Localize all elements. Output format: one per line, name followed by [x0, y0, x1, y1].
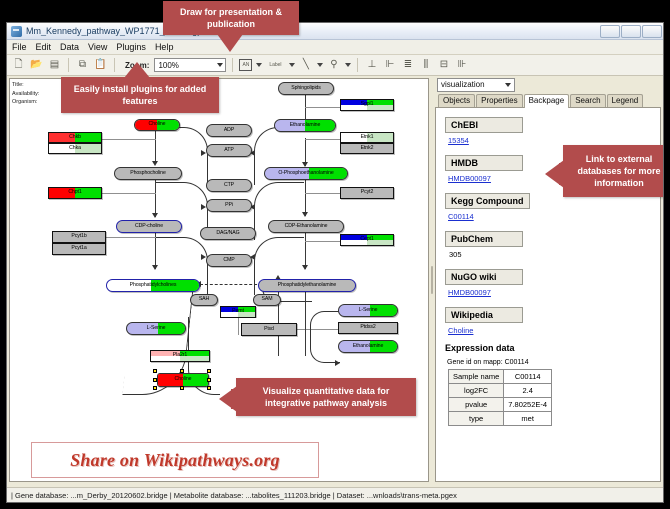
pathway-meta: Title: Availability: Organism: — [12, 81, 39, 107]
node-label: Etnk1 — [361, 135, 374, 140]
visualization-value: visualization — [441, 80, 485, 89]
table-row: log2FC 2.4 — [449, 384, 552, 398]
node-label: Pcyt1b — [71, 234, 86, 239]
node-label: ATP — [224, 148, 233, 153]
node-atp[interactable]: ATP — [206, 144, 252, 157]
toolbar-separator-1 — [68, 58, 69, 72]
app-icon — [11, 26, 22, 37]
line-icon[interactable]: ╲ — [298, 58, 313, 73]
selection-handle[interactable] — [153, 386, 157, 390]
align-left-icon[interactable]: ⊩ — [382, 58, 397, 73]
open-folder-icon[interactable]: 📂 — [29, 58, 44, 73]
gene-link-pcyt1 — [106, 237, 156, 238]
node-label: ADP — [224, 128, 234, 133]
node-chpt1[interactable]: Chpt1 — [48, 187, 102, 199]
toolbar-separator-2 — [114, 58, 115, 72]
node-label: CMP — [223, 258, 234, 263]
edge-pe-pc — [200, 284, 262, 285]
node-label: CDP-Ethanolamine — [285, 224, 328, 229]
node-sam[interactable]: SAM — [253, 294, 281, 306]
node-label: Etnk2 — [361, 146, 374, 151]
node-ethanolamine[interactable]: Ethanolamine — [274, 119, 336, 132]
selection-handle[interactable] — [153, 369, 157, 373]
align-top-icon[interactable]: ⊥ — [364, 58, 379, 73]
node-pcyt2[interactable]: Pcyt2 — [340, 187, 394, 199]
cell-label: type — [449, 412, 504, 426]
toolbar-separator-4 — [357, 58, 358, 72]
selection-handle[interactable] — [180, 386, 184, 390]
pathvisio-window: Mm_Kennedy_pathway_WP1771_45176.gpml - P… — [6, 22, 664, 503]
node-label: Phosphocholine — [130, 171, 166, 176]
title-bar: Mm_Kennedy_pathway_WP1771_45176.gpml - P… — [7, 23, 663, 40]
node-adp[interactable]: ADP — [206, 124, 252, 137]
callout-visualize-text: Visualize quantitative data for integrat… — [244, 385, 408, 409]
main-toolbar: 🗋 📂 ▤ ⧉ 📋 Zoom: 100% AN Label ╲ ⚲ ⊥ ⊩ ≣ … — [7, 55, 663, 76]
db-link-wikipedia[interactable]: Choline — [448, 326, 660, 335]
status-text: | Gene database: ...m_Derby_20120602.bri… — [11, 491, 457, 500]
selection-handle[interactable] — [207, 386, 211, 390]
callout-share: Share on Wikipathways.org — [31, 442, 319, 478]
edge-cdpethn-pe — [305, 231, 306, 269]
cell-value: C00114 — [504, 370, 552, 384]
visualization-row: visualization — [435, 78, 661, 93]
node-phosphatidylethanolamine[interactable]: Phosphatidylethanolamine — [258, 279, 356, 292]
chevron-down-icon — [217, 63, 223, 67]
node-label: Pisd — [264, 327, 274, 332]
main-body: Title: Availability: Organism: — [7, 76, 663, 484]
cell-value: 2.4 — [504, 384, 552, 398]
callout-visualize-tail — [231, 389, 239, 409]
node-label: Choline — [175, 377, 192, 382]
table-row: Sample name C00114 — [449, 370, 552, 384]
gene-link-cept1 — [305, 241, 342, 242]
cell-label: log2FC — [449, 384, 504, 398]
copy-icon[interactable]: ⧉ — [75, 58, 90, 73]
node-dag-nag[interactable]: DAG/NAG — [200, 227, 256, 240]
menu-data[interactable]: Data — [60, 42, 79, 52]
gene-id-line: Gene id on mapp: C00114 — [447, 359, 660, 366]
node-label: Chkb — [69, 135, 81, 140]
arrow-icon — [335, 360, 340, 366]
node-sah[interactable]: SAH — [190, 294, 218, 306]
db-link-kegg[interactable]: C00114 — [448, 212, 660, 221]
maximize-button[interactable] — [621, 25, 641, 38]
callout-plugins-tail — [132, 75, 144, 83]
node-label: Ethanolamine — [290, 123, 321, 128]
node-label: SAH — [199, 297, 209, 302]
expression-table: Sample name C00114 log2FC 2.4 pvalue 7.8… — [448, 369, 552, 426]
minimize-button[interactable] — [600, 25, 620, 38]
side-panel: visualization Objects Properties Backpag… — [435, 78, 661, 482]
close-button[interactable] — [642, 25, 662, 38]
gene-link-etnk — [305, 139, 342, 140]
node-chka[interactable]: Chka — [48, 143, 102, 154]
paste-icon[interactable]: 📋 — [93, 58, 108, 73]
node-cmp[interactable]: CMP — [206, 254, 252, 267]
save-icon[interactable]: ▤ — [47, 58, 62, 73]
zoom-value: 100% — [158, 61, 178, 70]
node-label: Chpt1 — [68, 190, 81, 195]
selection-handle[interactable] — [180, 369, 184, 373]
callout-draw: Draw for presentation & publication — [163, 1, 299, 35]
node-choline-top[interactable]: Choline — [134, 119, 180, 131]
menu-file[interactable]: File — [12, 42, 27, 52]
node-ppi[interactable]: PPi — [206, 199, 252, 212]
gene-link-chpt1 — [100, 193, 156, 194]
db-header-chebi: ChEBI — [445, 117, 523, 133]
node-choline-selected[interactable]: Choline — [157, 373, 209, 387]
callout-links-tail — [559, 163, 567, 185]
chevron-down-icon — [505, 83, 511, 87]
tab-properties[interactable]: Properties — [476, 94, 522, 107]
datanode-icon[interactable]: AN — [239, 59, 252, 71]
node-label: Phosphatidylethanolamine — [278, 283, 336, 288]
db-value-pubchem: 305 — [449, 250, 660, 259]
expression-data-title: Expression data — [445, 343, 660, 353]
node-label: Pcyt1a — [71, 246, 86, 251]
callout-share-text: Share on Wikipathways.org — [70, 450, 280, 471]
db-link-chebi[interactable]: 15354 — [448, 136, 660, 145]
stack-right-icon[interactable]: ⊪ — [454, 58, 469, 73]
node-label: O-Phosphoethanolamine — [278, 171, 333, 176]
node-label: CTP — [224, 183, 234, 188]
node-label: Ptdss2 — [360, 325, 375, 330]
node-ethanolamine-bottom[interactable]: Ethanolamine — [338, 340, 398, 353]
tab-legend[interactable]: Legend — [607, 94, 644, 107]
cell-value: 7.80252E-4 — [504, 398, 552, 412]
callout-draw-tail — [225, 33, 235, 41]
gene-link-pcyt2 — [305, 193, 342, 194]
node-o-phosphoethanolamine[interactable]: O-Phosphoethanolamine — [264, 167, 348, 180]
window-buttons[interactable] — [600, 25, 663, 38]
menu-bar: File Edit Data View Plugins Help — [7, 40, 663, 55]
node-label: SAM — [262, 297, 273, 302]
menu-view[interactable]: View — [88, 42, 107, 52]
datanode-dropdown-icon[interactable] — [256, 63, 262, 67]
pathway-canvas[interactable]: Title: Availability: Organism: — [9, 78, 429, 482]
db-header-kegg: Kegg Compound — [445, 193, 530, 209]
node-label: L-Serine — [147, 326, 166, 331]
node-label: PPi — [225, 203, 233, 208]
node-ptdss2[interactable]: Ptdss2 — [338, 322, 398, 334]
callout-visualize: Visualize quantitative data for integrat… — [236, 378, 416, 416]
node-phosphocholine[interactable]: Phosphocholine — [114, 167, 182, 180]
line-dropdown-icon[interactable] — [317, 63, 323, 67]
callout-links-text: Link to external databases for more info… — [571, 153, 664, 189]
gene-link-sgpl1 — [305, 107, 342, 108]
db-link-nugo[interactable]: HMDB00097 — [448, 288, 660, 297]
selection-handle[interactable] — [153, 378, 157, 382]
edge-pethn-cdpethn — [305, 178, 306, 216]
node-label: Sgpl1 — [361, 102, 374, 107]
node-label: Phosphatidylcholines — [130, 283, 177, 288]
callout-draw-text: Draw for presentation & publication — [171, 6, 291, 30]
node-label: Pemt — [232, 309, 244, 314]
db-header-nugo: NuGO wiki — [445, 269, 523, 285]
node-cdp-choline[interactable]: CDP-choline — [116, 220, 182, 233]
tab-search[interactable]: Search — [570, 94, 605, 107]
tab-backpage[interactable]: Backpage — [524, 94, 570, 108]
db-header-wikipedia: Wikipedia — [445, 307, 523, 323]
pathway-drawing[interactable]: Title: Availability: Organism: — [10, 79, 428, 481]
stack-center-icon[interactable]: ⊟ — [436, 58, 451, 73]
cell-label: pvalue — [449, 398, 504, 412]
node-label: CDP-choline — [135, 224, 163, 229]
table-row: pvalue 7.80252E-4 — [449, 398, 552, 412]
zoom-combobox[interactable]: 100% — [154, 58, 226, 72]
receptor-dropdown-icon[interactable] — [345, 63, 351, 67]
menu-plugins[interactable]: Plugins — [116, 42, 146, 52]
node-l-serine-left[interactable]: L-Serine — [126, 322, 186, 335]
node-label: Ethanolamine — [353, 344, 384, 349]
node-etnk1[interactable]: Etnk1 — [340, 132, 394, 143]
cell-value: met — [504, 412, 552, 426]
node-label: Pla2r1 — [173, 353, 187, 358]
label-icon[interactable]: Label — [265, 58, 285, 73]
db-header-hmdb: HMDB — [445, 155, 523, 171]
node-label: DAG/NAG — [216, 231, 239, 236]
status-bar: | Gene database: ...m_Derby_20120602.bri… — [7, 487, 663, 502]
new-file-icon[interactable]: 🗋 — [11, 58, 26, 73]
menu-edit[interactable]: Edit — [36, 42, 52, 52]
edge-lserine-in — [310, 311, 340, 337]
node-label: Sphingolipids — [291, 86, 321, 91]
table-row: type met — [449, 412, 552, 426]
gene-link-chk — [100, 139, 156, 140]
side-tabstrip: Objects Properties Backpage Search Legen… — [435, 93, 661, 108]
selection-handle[interactable] — [207, 369, 211, 373]
edge-pe-down-2 — [305, 286, 306, 356]
node-ctp[interactable]: CTP — [206, 179, 252, 192]
node-etnk2[interactable]: Etnk2 — [340, 143, 394, 154]
node-label: Cept1 — [360, 237, 373, 242]
label-dropdown-icon[interactable] — [289, 63, 295, 67]
callout-links: Link to external databases for more info… — [563, 145, 664, 197]
meta-availability: Availability: — [12, 90, 39, 99]
node-pcyt1a[interactable]: Pcyt1a — [52, 243, 106, 255]
node-sphingolipids[interactable]: Sphingolipids — [278, 82, 334, 95]
cell-label: Sample name — [449, 370, 504, 384]
tab-objects[interactable]: Objects — [438, 94, 475, 107]
selection-handle[interactable] — [207, 378, 211, 382]
db-header-pubchem: PubChem — [445, 231, 523, 247]
node-l-serine-right[interactable]: L-Serine — [338, 304, 398, 317]
node-label: L-Serine — [359, 308, 378, 313]
node-label: Choline — [149, 122, 166, 127]
callout-plugins-text: Easily install plugins for added feature… — [69, 83, 211, 107]
node-cdp-ethanolamine[interactable]: CDP-Ethanolamine — [268, 220, 344, 233]
node-phosphatidylcholines[interactable]: Phosphatidylcholines — [106, 279, 200, 292]
size-width-icon[interactable]: ⫼ — [418, 58, 433, 73]
receptor-icon[interactable]: ⚲ — [326, 58, 341, 73]
meta-organism: Organism: — [12, 98, 39, 107]
node-label: Chka — [69, 146, 81, 151]
node-label: Pcyt2 — [361, 190, 373, 195]
meta-title: Title: — [12, 81, 39, 90]
align-bottom-icon[interactable]: ≣ — [400, 58, 415, 73]
toolbar-separator-3 — [232, 58, 233, 72]
node-pisd[interactable]: Pisd — [241, 323, 297, 336]
node-chkb[interactable]: Chkb — [48, 132, 102, 143]
node-pcyt1b[interactable]: Pcyt1b — [52, 231, 106, 243]
visualization-select[interactable]: visualization — [437, 78, 515, 92]
menu-help[interactable]: Help — [155, 42, 174, 52]
